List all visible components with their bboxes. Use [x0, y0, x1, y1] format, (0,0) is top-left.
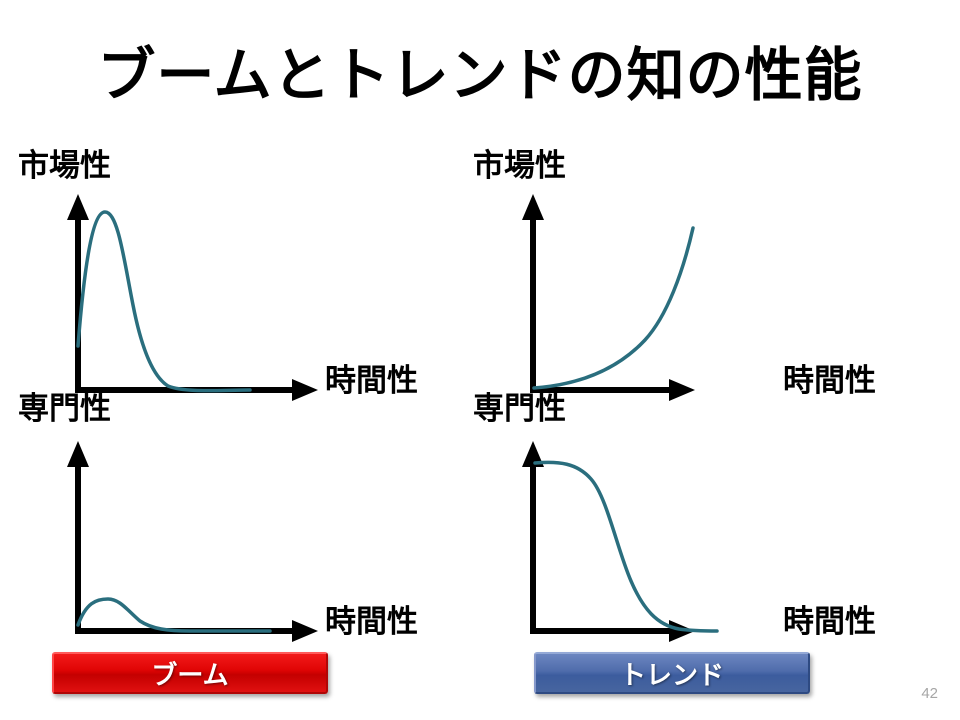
chart-boom-marketability: 市場性 時間性 — [0, 150, 340, 410]
y-axis-arrowhead — [522, 194, 544, 220]
legend-button-trend[interactable]: トレンド — [534, 652, 810, 694]
page-number: 42 — [921, 685, 938, 702]
slide-canvas: ブームとトレンドの知の性能 市場性 時間性 専門性 時間性 — [0, 0, 960, 720]
x-axis-label-temporality: 時間性 — [783, 365, 876, 396]
y-axis-label-marketability: 市場性 — [473, 150, 566, 181]
trend-marketability-plot — [455, 150, 800, 410]
y-axis-label-expertise: 専門性 — [18, 393, 111, 424]
trend-expertise-curve — [535, 462, 717, 631]
boom-expertise-plot — [0, 393, 340, 653]
x-axis-arrowhead — [292, 620, 318, 642]
legend-button-trend-label: トレンド — [620, 655, 724, 692]
chart-boom-expertise: 専門性 時間性 — [0, 393, 340, 653]
legend-button-boom-label: ブーム — [151, 655, 228, 692]
legend-button-boom[interactable]: ブーム — [52, 652, 328, 694]
x-axis-label-temporality: 時間性 — [325, 365, 418, 396]
boom-marketability-curve — [78, 212, 250, 391]
y-axis-arrowhead — [67, 194, 89, 220]
y-axis-label-marketability: 市場性 — [18, 150, 111, 181]
boom-marketability-plot — [0, 150, 340, 410]
boom-expertise-curve — [78, 599, 270, 631]
page-title: ブームとトレンドの知の性能 — [0, 44, 960, 108]
x-axis-label-temporality: 時間性 — [325, 606, 418, 637]
chart-trend-expertise: 専門性 時間性 — [455, 393, 800, 653]
trend-marketability-curve — [534, 228, 693, 388]
chart-trend-marketability: 市場性 時間性 — [455, 150, 800, 410]
x-axis-label-temporality: 時間性 — [783, 606, 876, 637]
y-axis-label-expertise: 専門性 — [473, 393, 566, 424]
y-axis-arrowhead — [67, 441, 89, 467]
trend-expertise-plot — [455, 393, 800, 653]
